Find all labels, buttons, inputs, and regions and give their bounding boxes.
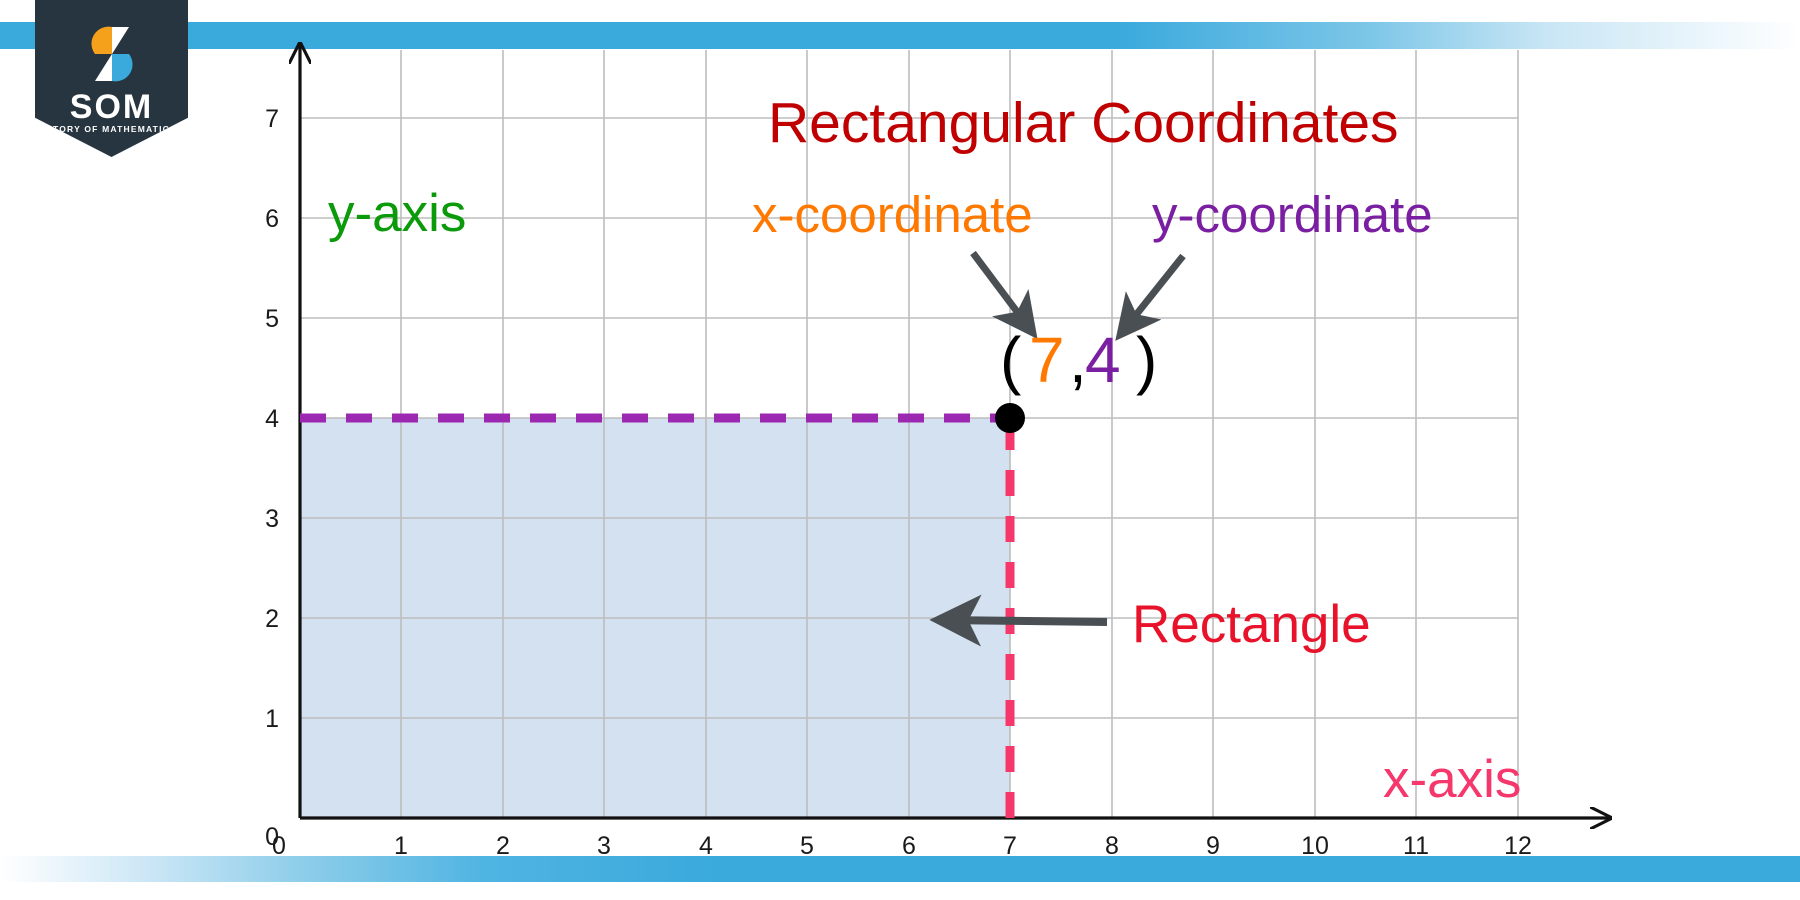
x-axis-tick-labels: 0 1 2 3 4 5 6 7 8 9 10 11 12 <box>272 832 1532 860</box>
x-tick-3: 3 <box>597 832 611 860</box>
y-tick-6: 6 <box>265 205 279 233</box>
x-tick-7: 7 <box>1003 832 1017 860</box>
y-axis-label: y-axis <box>328 184 466 243</box>
coordinate-plane-figure: 7 6 5 4 3 2 1 0 0 1 2 3 4 5 6 7 8 9 10 1… <box>0 0 1800 900</box>
rectangle-arrow <box>938 620 1107 622</box>
logo-wordmark: SOM <box>35 88 188 127</box>
ordered-pair-open-paren: ( <box>1000 324 1021 396</box>
x-tick-2: 2 <box>496 832 510 860</box>
x-tick-12: 12 <box>1504 832 1532 860</box>
y-tick-2: 2 <box>265 605 279 633</box>
plotted-point-7-4 <box>995 403 1025 433</box>
ordered-pair-group: ( 7 , 4 ) <box>1000 324 1157 396</box>
x-tick-11: 11 <box>1403 832 1429 860</box>
x-tick-0: 0 <box>272 832 286 860</box>
x-tick-10: 10 <box>1301 832 1329 860</box>
ordered-pair-y-value: 4 <box>1085 324 1121 396</box>
x-tick-9: 9 <box>1206 832 1220 860</box>
x-axis-label: x-axis <box>1383 750 1521 809</box>
ordered-pair-x-value: 7 <box>1029 324 1065 396</box>
x-tick-8: 8 <box>1105 832 1119 860</box>
x-tick-4: 4 <box>699 832 713 860</box>
y-tick-3: 3 <box>265 505 279 533</box>
rectangle-label: Rectangle <box>1132 595 1371 654</box>
x-tick-6: 6 <box>902 832 916 860</box>
y-tick-1: 1 <box>265 705 279 733</box>
y-axis-tick-labels: 7 6 5 4 3 2 1 0 <box>265 105 279 851</box>
y-tick-4: 4 <box>265 405 279 433</box>
chart-title: Rectangular Coordinates <box>768 91 1399 155</box>
som-leaf-logo-icon <box>83 25 141 83</box>
x-coordinate-arrow <box>973 253 1033 333</box>
y-coordinate-label: y-coordinate <box>1152 186 1433 243</box>
y-tick-5: 5 <box>265 305 279 333</box>
ordered-pair-close-paren: ) <box>1136 324 1157 396</box>
y-tick-7: 7 <box>265 105 279 133</box>
x-coordinate-label: x-coordinate <box>752 186 1033 243</box>
x-tick-5: 5 <box>800 832 814 860</box>
x-tick-1: 1 <box>394 832 408 860</box>
